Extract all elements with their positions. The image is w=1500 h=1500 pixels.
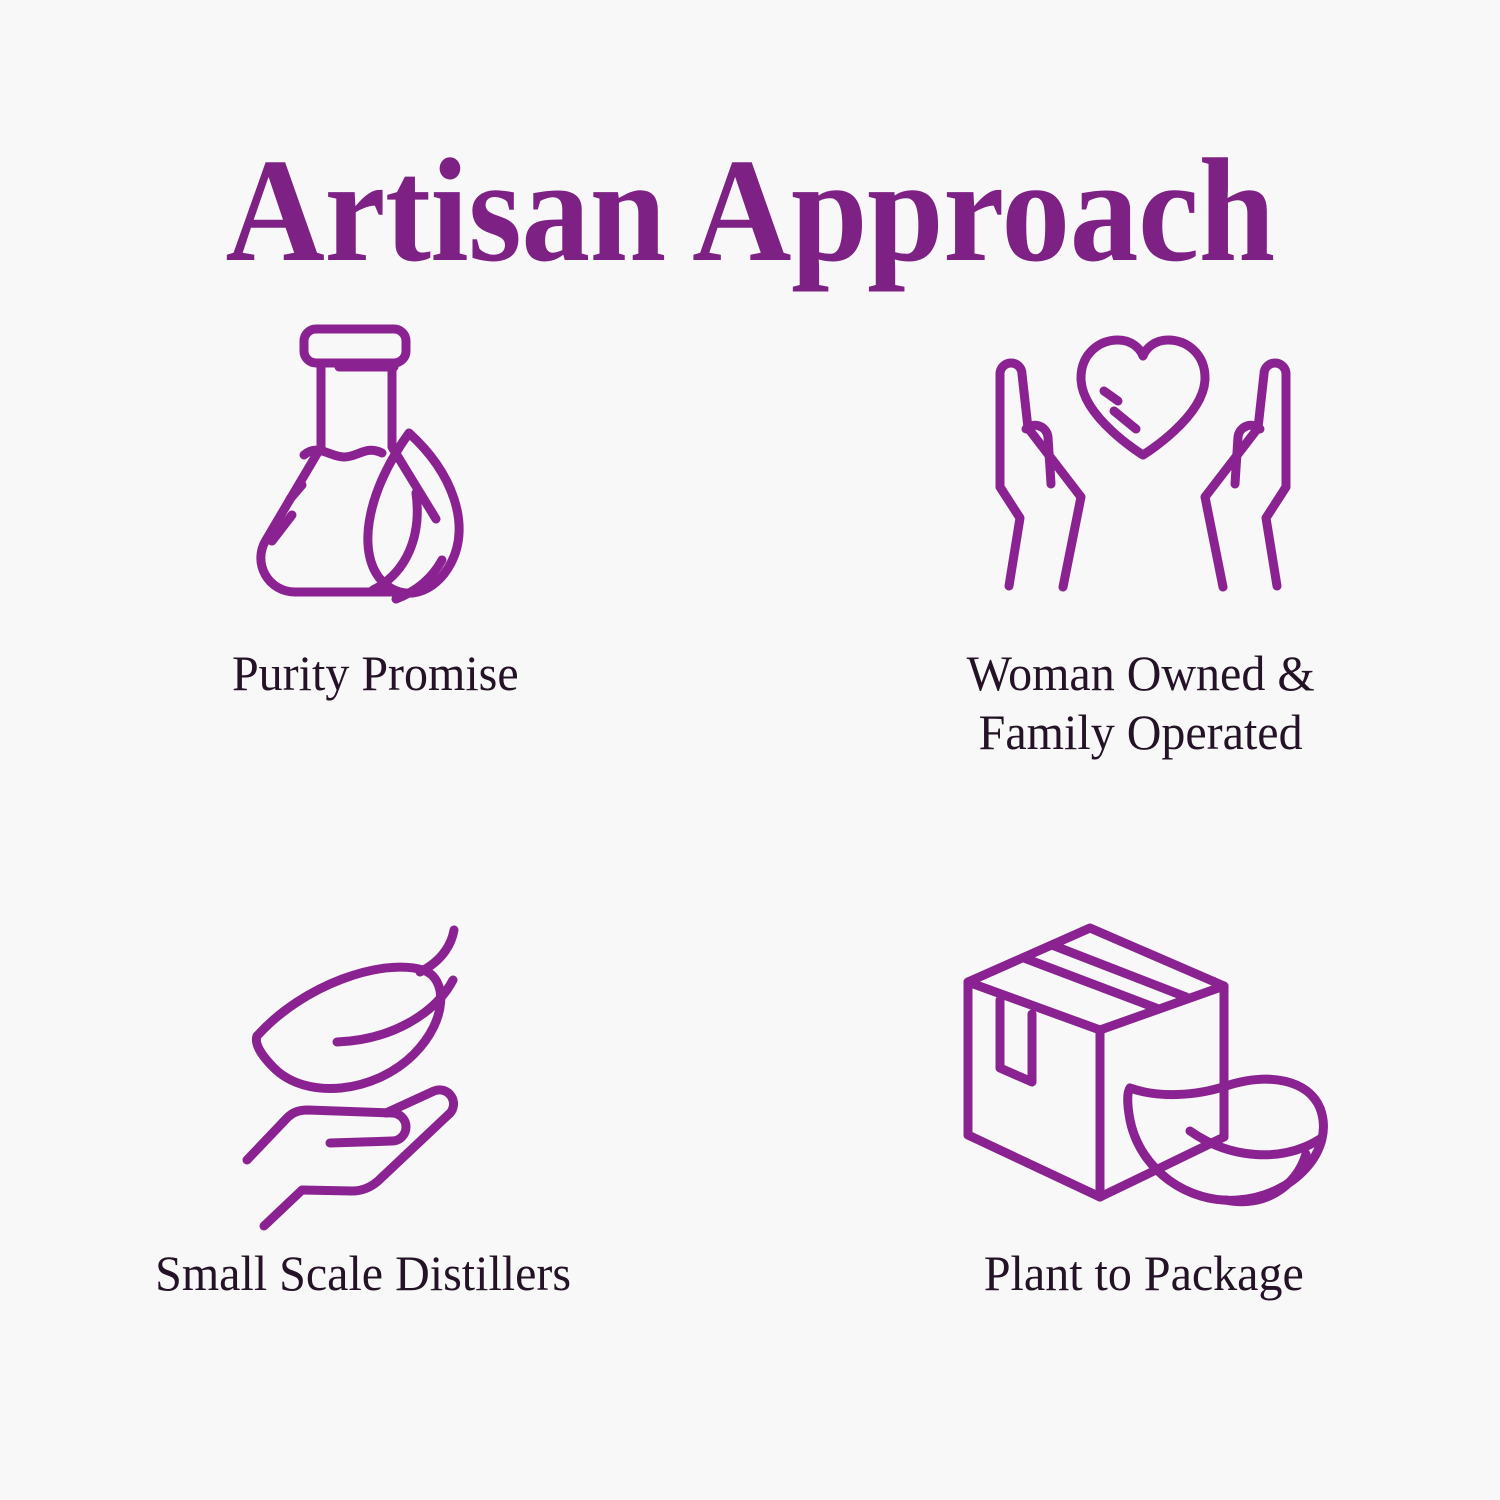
feature-label: Small Scale Distillers [156, 1244, 572, 1303]
feature-grid: Purity Promise [0, 300, 1500, 1500]
feature-label: Woman Owned & Family Operated [966, 644, 1314, 762]
header: Artisan Approach [0, 0, 1500, 300]
feature-woman-owned: Woman Owned & Family Operated [750, 300, 1500, 900]
feature-plant-to-package: Plant to Package [750, 900, 1500, 1500]
artisan-approach-panel: Artisan Approach [0, 0, 1500, 1500]
feature-purity-promise: Purity Promise [0, 300, 750, 900]
page-title: Artisan Approach [225, 141, 1274, 282]
box-leaf-icon [948, 910, 1358, 1210]
flask-leaf-icon [246, 310, 496, 610]
feature-small-scale-distillers: Small Scale Distillers [0, 900, 750, 1500]
feature-label: Plant to Package [984, 1244, 1304, 1303]
hands-holding-heart-icon [978, 310, 1308, 610]
leaf-in-hand-icon [234, 910, 496, 1210]
feature-label: Purity Promise [232, 644, 519, 703]
